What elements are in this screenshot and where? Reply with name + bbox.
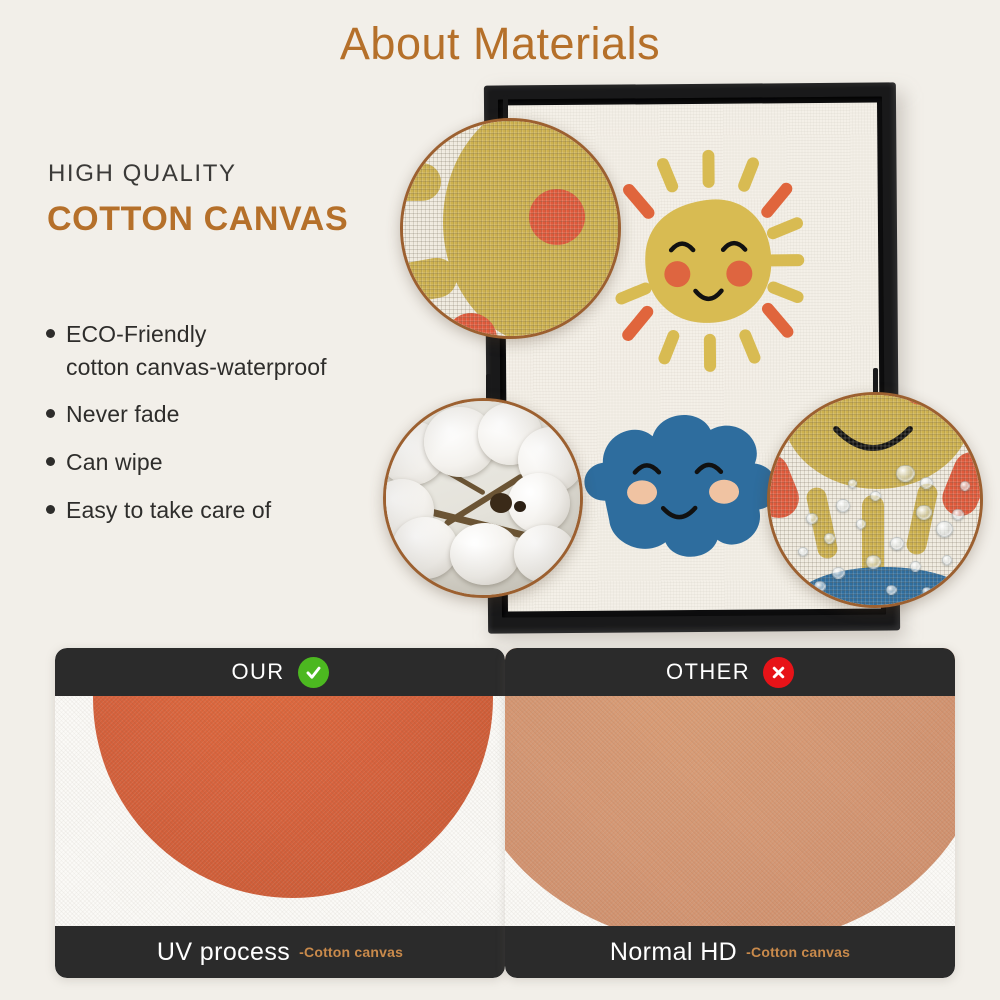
- panel-footer-our: UV process -Cotton canvas: [55, 926, 505, 978]
- cloud-illustration: [568, 403, 799, 565]
- list-item: Never fade: [44, 398, 444, 431]
- panel-header-label: OUR: [231, 659, 284, 685]
- cotton-boll-photo: [383, 398, 583, 598]
- panel-header-label: OTHER: [666, 659, 750, 685]
- panel-footer-other: Normal HD -Cotton canvas: [505, 926, 955, 978]
- comparison-panel-our: OUR UV process -Cotton canvas: [55, 648, 505, 978]
- panel-footer-label: UV process: [157, 938, 290, 967]
- page-title: About Materials: [0, 18, 1000, 70]
- headline-text: COTTON CANVAS: [47, 200, 348, 239]
- panel-footer-sublabel: -Cotton canvas: [746, 944, 850, 960]
- list-item-line1: Never fade: [66, 401, 180, 427]
- panel-header-other: OTHER: [505, 648, 955, 696]
- panel-footer-sublabel: -Cotton canvas: [299, 944, 403, 960]
- infographic-root: About Materials HIGH QUALITY COTTON CANV…: [0, 0, 1000, 1000]
- panel-header-our: OUR: [55, 648, 505, 696]
- panel-footer-label: Normal HD: [610, 938, 737, 967]
- list-item: Can wipe: [44, 446, 444, 479]
- list-item: ECO-Friendly cotton canvas-waterproof: [44, 318, 444, 383]
- waterproof-droplets-closeup: [767, 392, 983, 608]
- list-item-line2: cotton canvas-waterproof: [66, 351, 444, 384]
- check-icon: [298, 657, 329, 688]
- list-item-line1: Easy to take care of: [66, 497, 271, 523]
- cross-icon: [763, 657, 794, 688]
- canvas-weave-closeup: [400, 118, 621, 339]
- sun-illustration: [592, 145, 824, 377]
- list-item-line1: ECO-Friendly: [66, 321, 207, 347]
- comparison-panel-other: OTHER Normal HD -Cotton canvas: [505, 648, 955, 978]
- list-item-line1: Can wipe: [66, 449, 163, 475]
- eyebrow-text: HIGH QUALITY: [48, 160, 237, 188]
